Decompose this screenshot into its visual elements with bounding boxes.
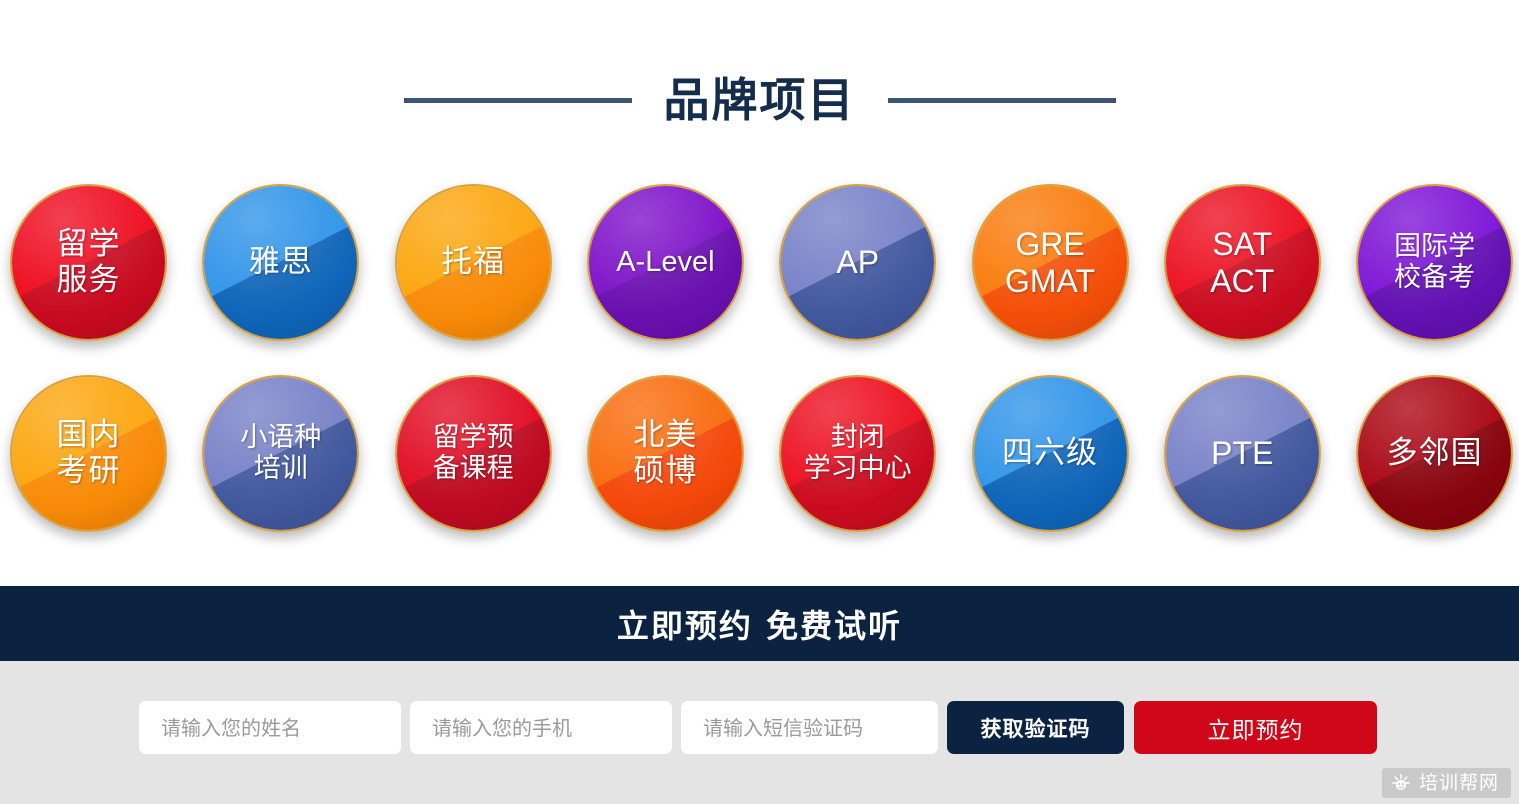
- program-badge-label: SAT ACT: [1204, 226, 1280, 299]
- cta-banner-title: 立即预约 免费试听: [617, 601, 902, 647]
- cta-banner: 立即预约 免费试听: [0, 586, 1519, 661]
- program-badge-label: 小语种 培训: [234, 423, 327, 485]
- program-badge[interactable]: 四六级: [972, 375, 1129, 532]
- program-badge[interactable]: 国际学 校备考: [1356, 184, 1513, 341]
- program-badge[interactable]: GRE GMAT: [972, 184, 1129, 341]
- page-title-header: 品牌项目: [0, 64, 1519, 136]
- program-badge-label: 国际学 校备考: [1388, 232, 1481, 294]
- title-rule-left: [404, 98, 632, 103]
- program-badge-label: A-Level: [610, 246, 720, 279]
- program-badge-label: 国内 考研: [51, 418, 127, 489]
- program-badge-label: 留学预 备课程: [427, 423, 520, 485]
- program-badge-label: 托福: [435, 245, 511, 280]
- program-badge[interactable]: A-Level: [587, 184, 744, 341]
- program-badge[interactable]: 托福: [395, 184, 552, 341]
- sms-code-input[interactable]: [681, 701, 938, 754]
- submit-booking-button[interactable]: 立即预约: [1134, 701, 1377, 754]
- program-badge[interactable]: 留学预 备课程: [395, 375, 552, 532]
- program-badge-label: PTE: [1205, 435, 1279, 471]
- program-badge[interactable]: 多邻国: [1356, 375, 1513, 532]
- program-badge-label: 雅思: [243, 245, 319, 280]
- program-badge[interactable]: 留学 服务: [10, 184, 167, 341]
- program-badge[interactable]: 国内 考研: [10, 375, 167, 532]
- program-badge-row-2: 国内 考研小语种 培训留学预 备课程北美 硕博封闭 学习中心四六级PTE多邻国: [10, 375, 1513, 532]
- program-badge[interactable]: 北美 硕博: [587, 375, 744, 532]
- program-badge[interactable]: PTE: [1164, 375, 1321, 532]
- title-rule-right: [888, 98, 1116, 103]
- program-badge-label: 留学 服务: [51, 227, 127, 298]
- program-badge[interactable]: 小语种 培训: [202, 375, 359, 532]
- booking-form-strip: 获取验证码 立即预约: [0, 661, 1519, 804]
- program-badge-label: GRE GMAT: [999, 226, 1101, 299]
- program-badge[interactable]: SAT ACT: [1164, 184, 1321, 341]
- get-sms-code-button[interactable]: 获取验证码: [947, 701, 1124, 754]
- phone-input[interactable]: [410, 701, 672, 754]
- name-input[interactable]: [139, 701, 401, 754]
- sun-face-icon: [1390, 772, 1412, 794]
- program-badge-grid: 留学 服务雅思托福A-LevelAPGRE GMATSAT ACT国际学 校备考…: [10, 184, 1513, 532]
- page-title: 品牌项目: [664, 77, 856, 123]
- program-badge[interactable]: AP: [779, 184, 936, 341]
- site-watermark: 培训帮网: [1382, 768, 1511, 798]
- watermark-label: 培训帮网: [1419, 774, 1499, 793]
- program-badge[interactable]: 封闭 学习中心: [779, 375, 936, 532]
- program-badge-label: 封闭 学习中心: [798, 423, 918, 485]
- program-badge-label: 四六级: [996, 436, 1104, 471]
- program-badge-label: 北美 硕博: [627, 418, 703, 489]
- program-badge-row-1: 留学 服务雅思托福A-LevelAPGRE GMATSAT ACT国际学 校备考: [10, 184, 1513, 341]
- program-badge-label: AP: [830, 244, 885, 280]
- booking-form: 获取验证码 立即预约: [139, 701, 1387, 754]
- program-badge[interactable]: 雅思: [202, 184, 359, 341]
- program-badge-label: 多邻国: [1381, 436, 1489, 471]
